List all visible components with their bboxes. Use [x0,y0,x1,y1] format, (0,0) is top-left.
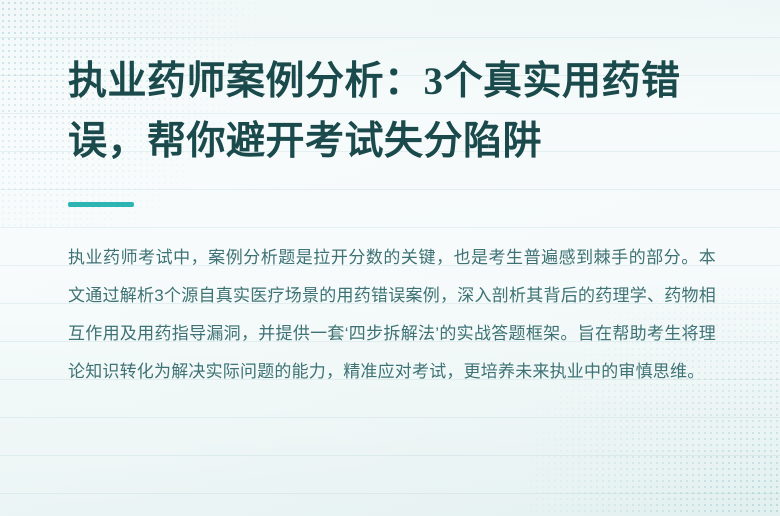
title-accent-rule [68,202,134,207]
article-summary: 执业药师考试中，案例分析题是拉开分数的关键，也是考生普遍感到棘手的部分。本文通过… [68,239,716,391]
article-content: 执业药师案例分析：3个真实用药错误，帮你避开考试失分陷阱 执业药师考试中，案例分… [0,0,780,516]
article-card: 执业药师案例分析：3个真实用药错误，帮你避开考试失分陷阱 执业药师考试中，案例分… [0,0,780,516]
article-title: 执业药师案例分析：3个真实用药错误，帮你避开考试失分陷阱 [68,52,716,172]
